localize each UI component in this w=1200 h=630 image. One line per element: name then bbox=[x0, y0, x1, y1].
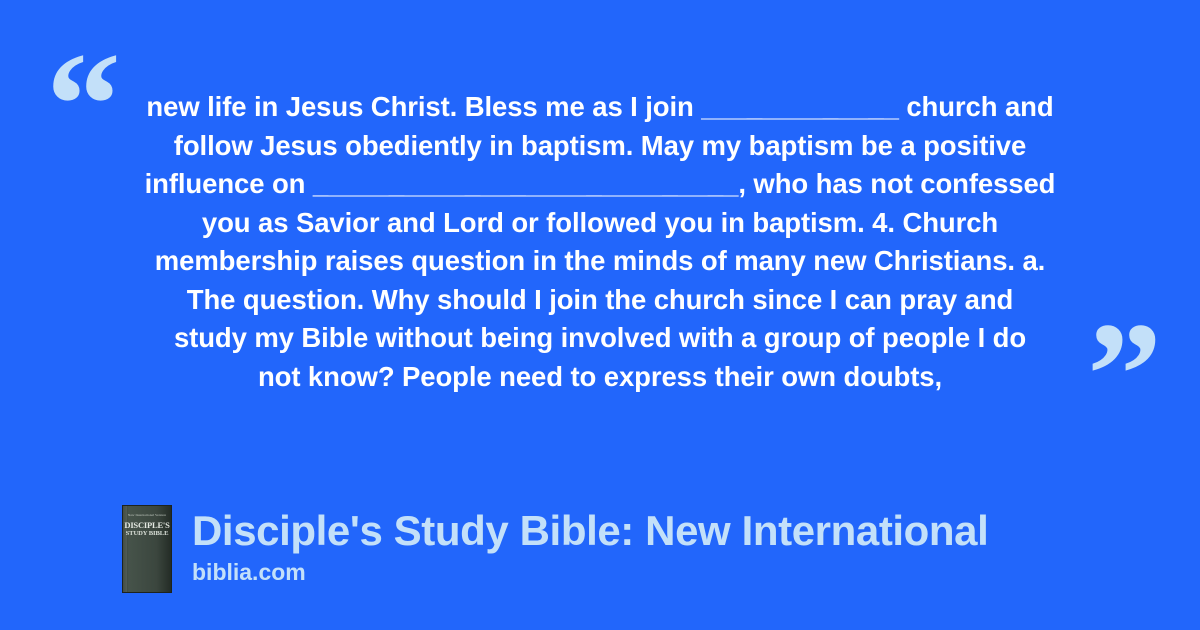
quote-line: new life in Jesus Christ. Bless me as I … bbox=[112, 88, 1088, 127]
book-cover-thumbnail: New International Version DISCIPLE'S STU… bbox=[122, 505, 172, 593]
quote-text-block: new life in Jesus Christ. Bless me as I … bbox=[112, 88, 1088, 396]
book-cover-title-line: DISCIPLE'S bbox=[123, 521, 171, 530]
footer: New International Version DISCIPLE'S STU… bbox=[122, 505, 988, 593]
book-cover-top-line: New International Version bbox=[123, 513, 171, 518]
quote-line: not know? People need to express their o… bbox=[112, 358, 1088, 397]
quote-line: The question. Why should I join the chur… bbox=[112, 281, 1088, 320]
quote-line: influence on ___________________________… bbox=[112, 165, 1088, 204]
site-name: biblia.com bbox=[192, 559, 988, 586]
quote-card: “ ” new life in Jesus Christ. Bless me a… bbox=[0, 0, 1200, 630]
quote-line: membership raises question in the minds … bbox=[112, 242, 1088, 281]
closing-quote-icon: ” bbox=[1087, 300, 1160, 450]
quote-line: you as Savior and Lord or followed you i… bbox=[112, 204, 1088, 243]
quote-line: study my Bible without being involved wi… bbox=[112, 319, 1088, 358]
opening-quote-icon: “ bbox=[46, 30, 119, 180]
quote-line: follow Jesus obediently in baptism. May … bbox=[112, 127, 1088, 166]
book-cover-sub-line: STUDY BIBLE bbox=[123, 530, 171, 538]
book-title: Disciple's Study Bible: New Internationa… bbox=[192, 507, 988, 555]
book-spine bbox=[123, 506, 127, 592]
footer-text: Disciple's Study Bible: New Internationa… bbox=[192, 505, 988, 586]
